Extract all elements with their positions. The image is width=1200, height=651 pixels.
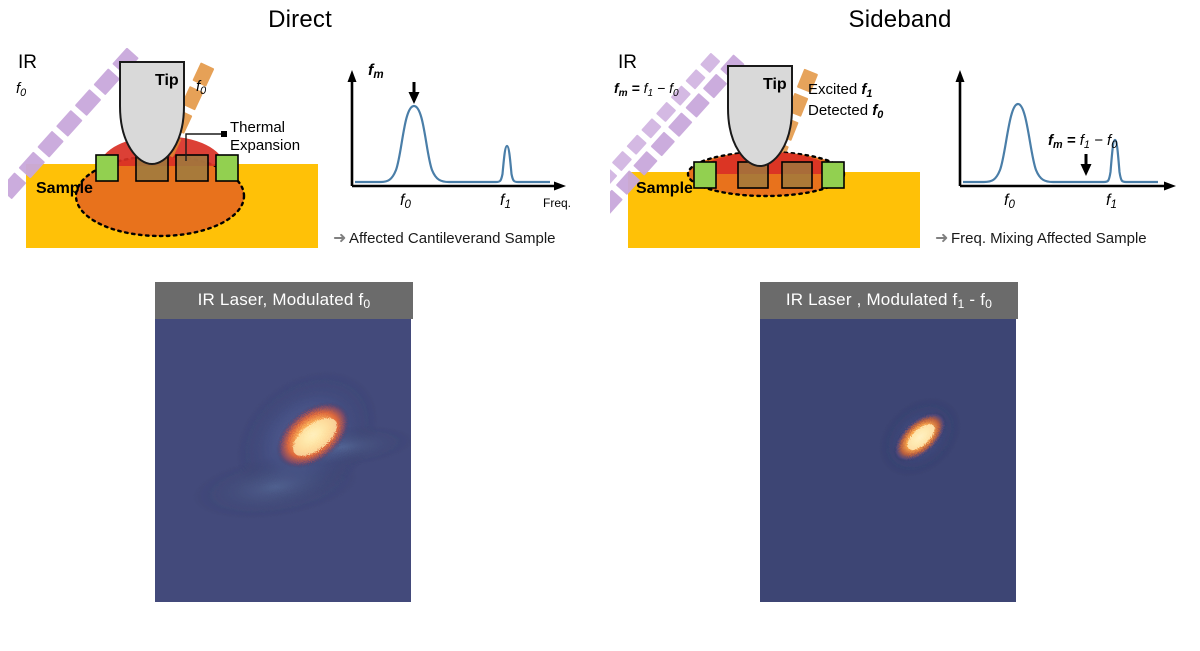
panel-direct: Direct: [0, 0, 600, 651]
afm-image-sideband: [760, 319, 1016, 602]
spectrum-xtick-f0-sideband: f0: [1004, 192, 1015, 210]
surface-block-brown-2: [176, 155, 208, 181]
fm-arrow-head: [409, 92, 420, 104]
surface-block-brown-2: [782, 162, 812, 188]
afm-noise-overlay-direct: [155, 319, 411, 602]
spectrum-trace-direct: [355, 106, 550, 182]
fm-arrow-head: [1081, 164, 1092, 176]
panel-title-sideband: Sideband: [600, 6, 1200, 34]
excited-line: Excited f1: [808, 81, 872, 98]
ir-label-direct: IR: [18, 52, 37, 74]
afm-image-label-sideband: IR Laser , Modulated f1 - f0: [760, 282, 1018, 319]
panel-title-direct: Direct: [0, 6, 600, 34]
ir-label-sideband: IR: [618, 52, 637, 74]
surface-block-green-1: [96, 155, 118, 181]
spectrum-caption-direct-text: Affected Cantileverand Sample: [349, 230, 556, 247]
surface-block-green-2: [822, 162, 844, 188]
arrow-bullet-icon: ➜: [935, 228, 951, 248]
spectrum-caption-sideband-text: Freq. Mixing Affected Sample: [951, 230, 1147, 247]
tip-label-sideband: Tip: [763, 76, 787, 94]
spectrum-xaxis-label-direct: Freq.: [543, 196, 571, 210]
panel-sideband: Sideband: [600, 0, 1200, 651]
spectrum-xtick-f0-direct: f0: [400, 192, 411, 210]
surface-block-green-1: [694, 162, 716, 188]
spectrum-peak-marker-direct: fm: [368, 62, 384, 80]
spectrum-y-axis-arrowhead: [956, 70, 965, 82]
thermal-line-2: Expansion: [230, 137, 300, 154]
spectrum-x-axis-arrowhead: [554, 182, 566, 191]
spectrum-xtick-f1-direct: f1: [500, 192, 511, 210]
thermal-leader-dot: [221, 131, 227, 137]
afm-image-block-sideband: IR Laser , Modulated f1 - f0: [760, 282, 1018, 602]
spectrum-caption-sideband: ➜Freq. Mixing Affected Sample: [935, 228, 1147, 248]
arrow-bullet-icon: ➜: [333, 228, 349, 248]
spectrum-x-axis-arrowhead: [1164, 182, 1176, 191]
afm-image-direct: [155, 319, 411, 602]
thermal-expansion-annotation: Thermal Expansion: [230, 119, 300, 155]
tip-frequency-label-direct: f0: [196, 78, 206, 95]
spectrum-peak-marker-sideband: fm = f1 − f0: [1048, 132, 1117, 149]
ir-frequency-expression-sideband: fm = f1 − f0: [614, 80, 679, 96]
afm-image-block-direct: IR Laser, Modulated f0: [155, 282, 413, 602]
excited-detected-annotation: Excited f1 Detected f0: [808, 80, 883, 122]
afm-noise-overlay-sideband: [760, 319, 1016, 602]
sample-label-direct: Sample: [36, 180, 93, 198]
tip-label-direct: Tip: [155, 72, 179, 90]
detected-line: Detected f0: [808, 102, 883, 119]
spectrum-y-axis-arrowhead: [348, 70, 357, 82]
ir-frequency-label-direct: f0: [16, 80, 26, 97]
afm-image-label-direct: IR Laser, Modulated f0: [155, 282, 413, 319]
surface-block-green-2: [216, 155, 238, 181]
thermal-line-1: Thermal: [230, 119, 285, 136]
sample-label-sideband: Sample: [636, 180, 693, 198]
spectrum-xtick-f1-sideband: f1: [1106, 192, 1117, 210]
spectrum-caption-direct: ➜Affected Cantileverand Sample: [333, 228, 556, 248]
